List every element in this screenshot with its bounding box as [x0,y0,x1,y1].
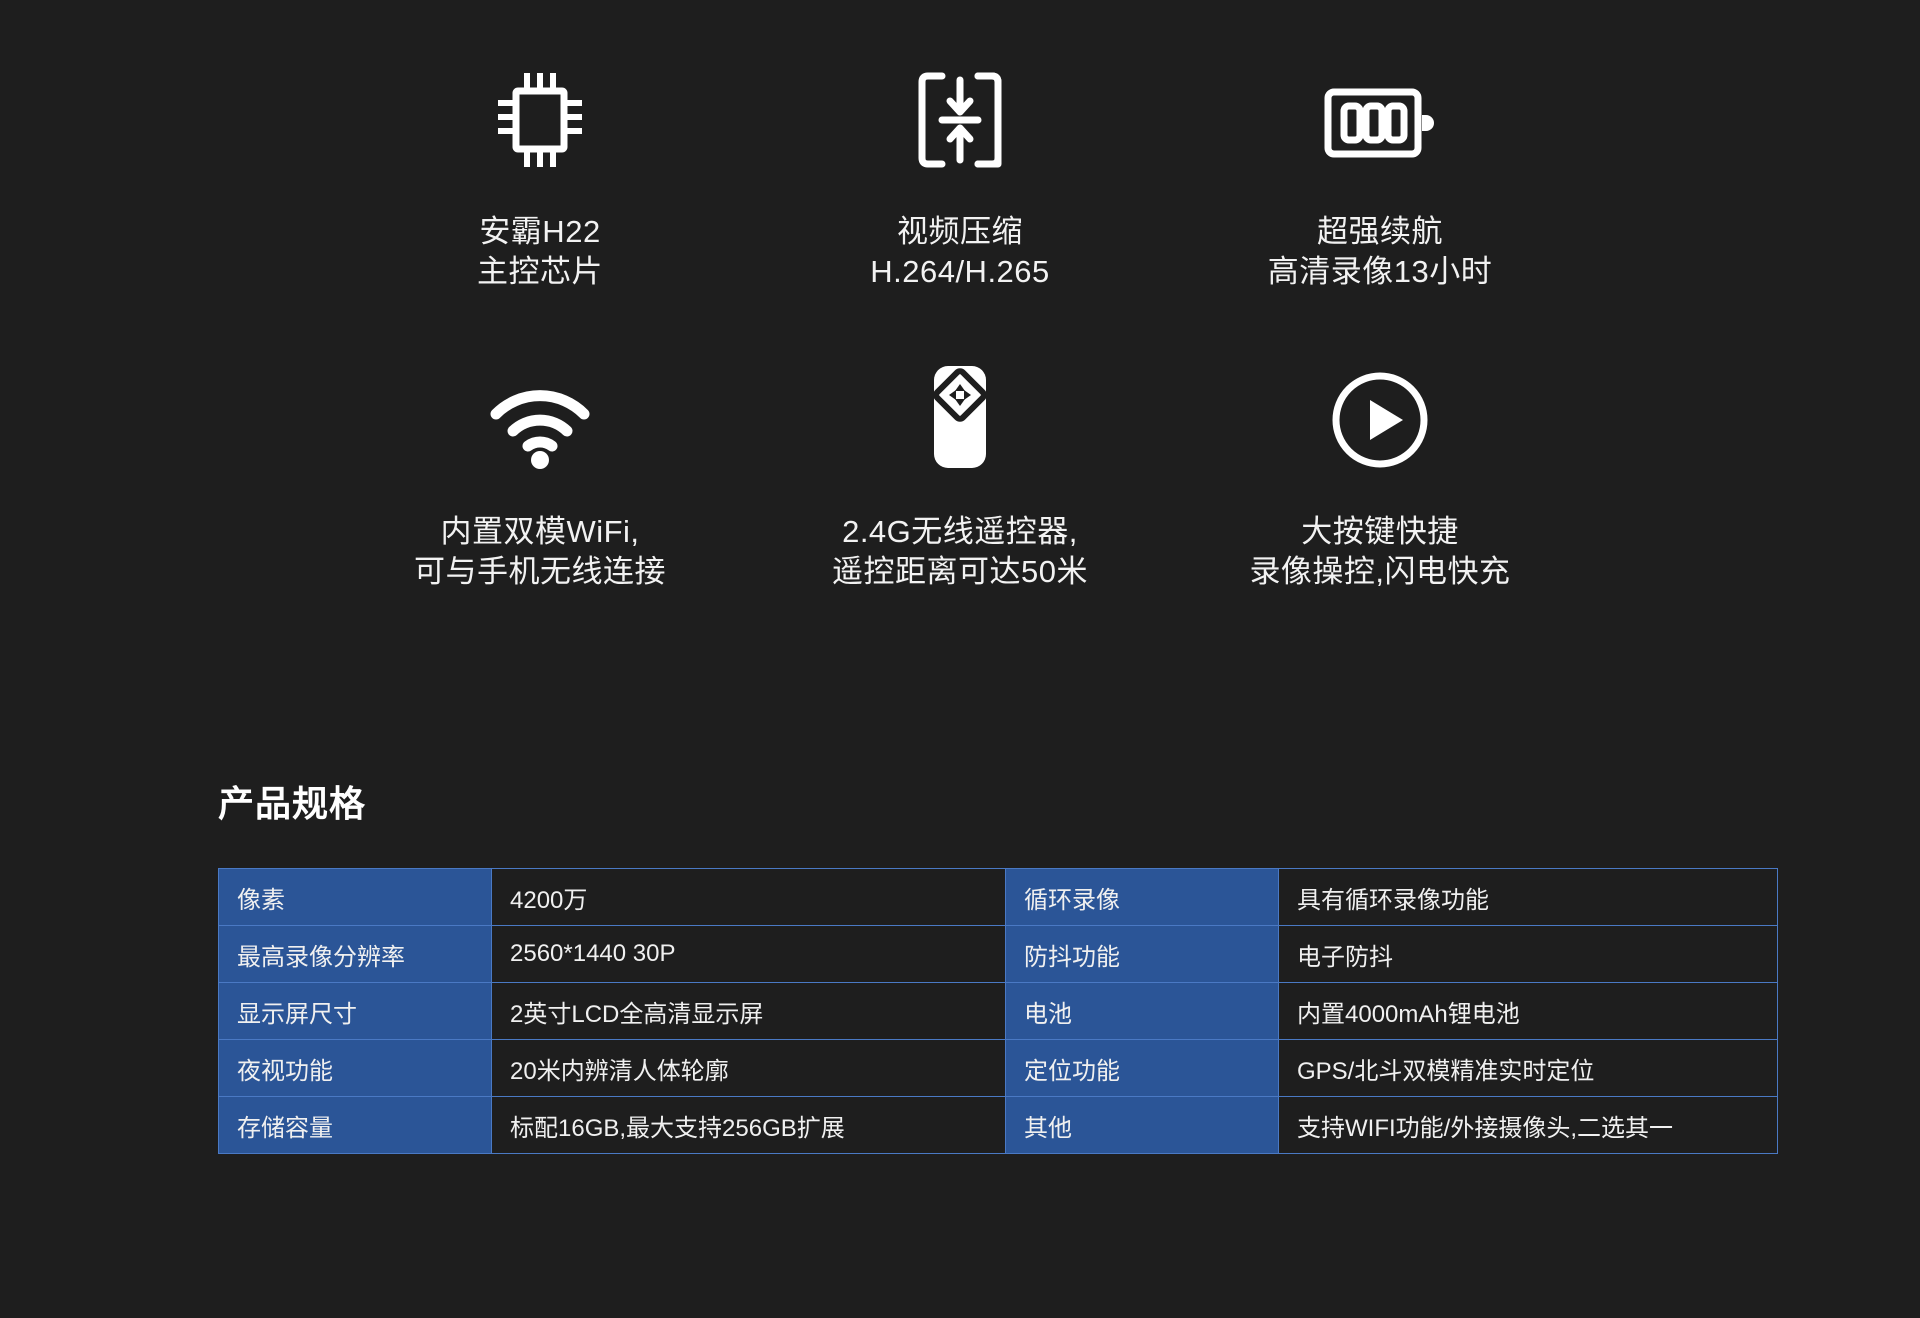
table-row: 夜视功能 20米内辨清人体轮廓 定位功能 GPS/北斗双模精准实时定位 [219,1040,1778,1097]
feature-caption: 2.4G无线遥控器, 遥控距离可达50米 [832,512,1088,593]
video-compression-icon [912,60,1008,170]
feature-caption: 视频压缩 H.264/H.265 [870,212,1050,293]
spec-table-wrapper: 像素 4200万 循环录像 具有循环录像功能 最高录像分辨率 2560*1440… [218,868,1701,1154]
feature-caption-line1: 大按键快捷 [1301,514,1459,549]
spec-value: 标配16GB,最大支持256GB扩展 [492,1097,1006,1154]
feature-caption: 内置双模WiFi, 可与手机无线连接 [414,512,666,593]
spec-value: 电子防抖 [1279,926,1778,983]
spec-value: 2560*1440 30P [492,926,1006,983]
spec-key: 显示屏尺寸 [219,983,492,1040]
spec-table: 像素 4200万 循环录像 具有循环录像功能 最高录像分辨率 2560*1440… [218,868,1778,1154]
spec-key: 夜视功能 [219,1040,492,1097]
battery-icon [1322,60,1438,170]
play-button-icon [1330,360,1430,470]
feature-caption-line2: 录像操控,闪电快充 [1249,552,1510,592]
product-spec-page: 安霸H22 主控芯片 [0,0,1920,1318]
spec-value: 内置4000mAh锂电池 [1279,983,1778,1040]
feature-caption: 超强续航 高清录像13小时 [1268,212,1492,293]
table-row: 最高录像分辨率 2560*1440 30P 防抖功能 电子防抖 [219,926,1778,983]
feature-item-wifi: 内置双模WiFi, 可与手机无线连接 [330,360,750,630]
feature-row-2: 内置双模WiFi, 可与手机无线连接 [330,360,1590,630]
spec-value: GPS/北斗双模精准实时定位 [1279,1040,1778,1097]
chip-icon [492,60,588,170]
wifi-icon [488,360,592,470]
spec-value: 支持WIFI功能/外接摄像头,二选其一 [1279,1097,1778,1154]
feature-item-remote-control: 2.4G无线遥控器, 遥控距离可达50米 [750,360,1170,630]
feature-caption: 安霸H22 主控芯片 [477,212,603,293]
feature-grid: 安霸H22 主控芯片 [330,60,1590,630]
spec-key: 循环录像 [1006,869,1279,926]
feature-caption-line2: 高清录像13小时 [1268,252,1492,292]
spec-key: 其他 [1006,1097,1279,1154]
spec-section-title: 产品规格 [218,775,366,827]
feature-caption-line1: 视频压缩 [897,214,1023,249]
feature-item-play-button: 大按键快捷 录像操控,闪电快充 [1170,360,1590,630]
feature-caption: 大按键快捷 录像操控,闪电快充 [1249,512,1510,593]
feature-item-battery: 超强续航 高清录像13小时 [1170,60,1590,360]
feature-item-video-compression: 视频压缩 H.264/H.265 [750,60,1170,360]
spec-value: 20米内辨清人体轮廓 [492,1040,1006,1097]
table-row: 显示屏尺寸 2英寸LCD全高清显示屏 电池 内置4000mAh锂电池 [219,983,1778,1040]
spec-key: 最高录像分辨率 [219,926,492,983]
feature-caption-line2: H.264/H.265 [870,252,1050,292]
spec-value: 2英寸LCD全高清显示屏 [492,983,1006,1040]
feature-caption-line2: 可与手机无线连接 [414,552,666,592]
feature-item-chip: 安霸H22 主控芯片 [330,60,750,360]
feature-caption-line1: 安霸H22 [479,214,600,249]
spec-key: 防抖功能 [1006,926,1279,983]
table-row: 像素 4200万 循环录像 具有循环录像功能 [219,869,1778,926]
feature-row-1: 安霸H22 主控芯片 [330,60,1590,360]
feature-caption-line2: 遥控距离可达50米 [832,552,1088,592]
feature-caption-line2: 主控芯片 [477,252,603,292]
spec-value: 4200万 [492,869,1006,926]
spec-key: 定位功能 [1006,1040,1279,1097]
feature-caption-line1: 超强续航 [1317,214,1443,249]
spec-value: 具有循环录像功能 [1279,869,1778,926]
spec-key: 存储容量 [219,1097,492,1154]
feature-caption-line1: 内置双模WiFi, [440,514,639,549]
remote-control-icon [928,360,992,470]
table-row: 存储容量 标配16GB,最大支持256GB扩展 其他 支持WIFI功能/外接摄像… [219,1097,1778,1154]
spec-key: 电池 [1006,983,1279,1040]
spec-key: 像素 [219,869,492,926]
feature-caption-line1: 2.4G无线遥控器, [842,514,1078,549]
